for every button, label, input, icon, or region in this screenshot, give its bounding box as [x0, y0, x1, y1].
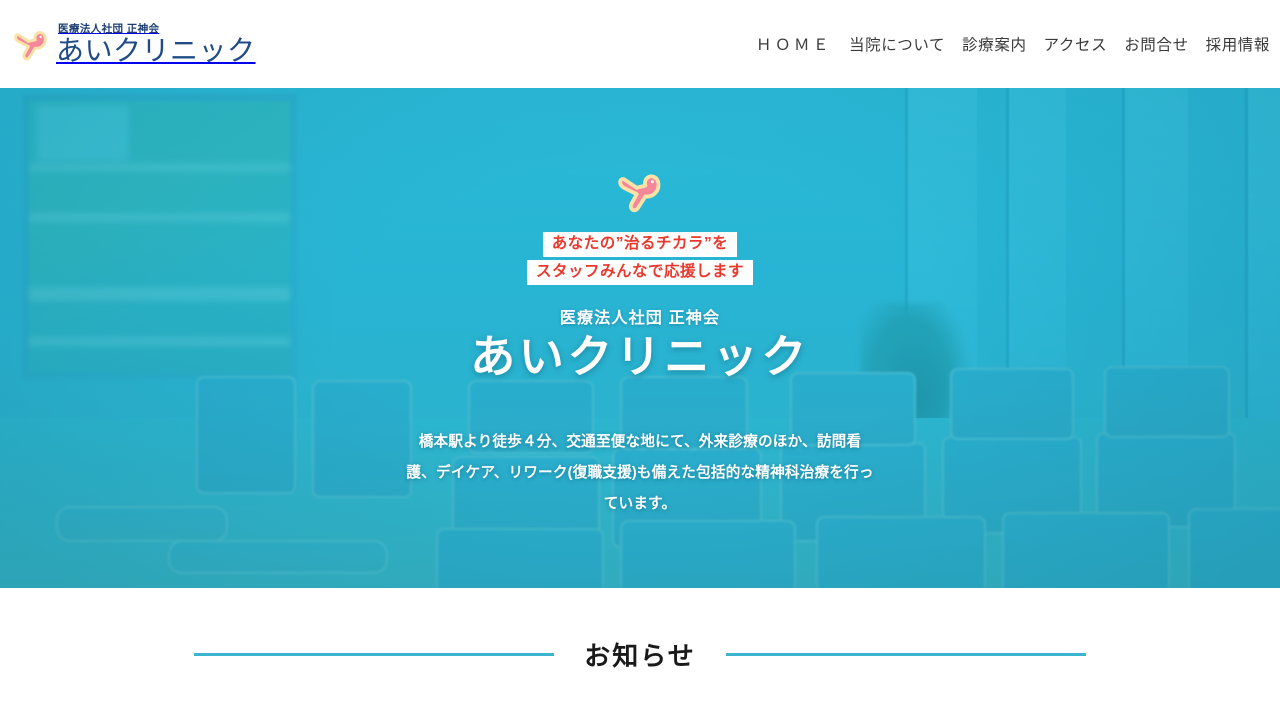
- news-section: お知らせ: [0, 588, 1280, 720]
- site-header: 医療法人社団 正神会 あいクリニック ＨＯＭＥ 当院について 診療案内 アクセス…: [0, 0, 1280, 88]
- logo-subtitle: 医療法人社団 正神会: [56, 23, 256, 36]
- nav-recruit[interactable]: 採用情報: [1206, 33, 1270, 55]
- logo-clinic-name: あいクリニック: [56, 36, 256, 65]
- hero-content: あなたの”治るチカラ”を スタッフみんなで応援します 医療法人社団 正神会 あい…: [0, 88, 1280, 588]
- hero-tagline: あなたの”治るチカラ”を スタッフみんなで応援します: [527, 232, 753, 285]
- nav-about[interactable]: 当院について: [849, 33, 945, 55]
- hero-tagline-line-2: スタッフみんなで応援します: [527, 260, 753, 285]
- hero-organization-name: 医療法人社団 正神会: [560, 304, 720, 328]
- dove-bird-icon: [10, 23, 52, 65]
- main-navigation: ＨＯＭＥ 当院について 診療案内 アクセス お問合せ 採用情報: [756, 33, 1270, 55]
- site-logo[interactable]: 医療法人社団 正神会 あいクリニック: [10, 23, 256, 66]
- nav-contact[interactable]: お問合せ: [1124, 33, 1188, 55]
- news-rule-right: [726, 653, 1086, 656]
- nav-home[interactable]: ＨＯＭＥ: [756, 33, 832, 55]
- news-heading: お知らせ: [194, 636, 1085, 673]
- hero-banner: あなたの”治るチカラ”を スタッフみんなで応援します 医療法人社団 正神会 あい…: [0, 88, 1280, 588]
- nav-access[interactable]: アクセス: [1044, 33, 1108, 55]
- news-rule-left: [194, 653, 554, 656]
- hero-clinic-title: あいクリニック: [470, 330, 810, 385]
- hero-tagline-line-1: あなたの”治るチカラ”を: [543, 232, 738, 257]
- dove-bird-icon: [613, 164, 667, 218]
- hero-description: 橋本駅より徒歩４分、交通至便な地にて、外来診療のほか、訪問看護、デイケア、リワー…: [405, 427, 875, 521]
- nav-medical-guide[interactable]: 診療案内: [962, 33, 1026, 55]
- news-section-title: お知らせ: [584, 636, 695, 673]
